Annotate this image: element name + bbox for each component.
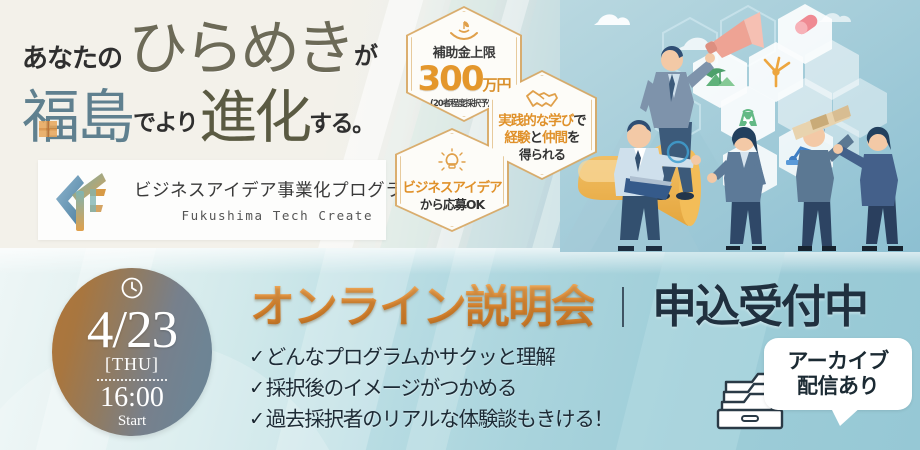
event-date: 4/23 bbox=[87, 306, 177, 355]
check-icon: ✓ bbox=[249, 374, 264, 403]
list-item-text: 過去採択者のリアルな体験談もきける！ bbox=[266, 404, 613, 435]
headline-main: 申込受付中 bbox=[652, 284, 867, 329]
list-item-text: どんなプログラムかサクッと理解 bbox=[266, 342, 555, 373]
headline-accent: オンライン説明会 bbox=[250, 284, 594, 329]
catchcopy-line1-small: あなたの bbox=[22, 46, 122, 78]
benefit-list: ✓ どんなプログラムかサクッと理解 ✓ 採択後のイメージがつかめる ✓ 過去採択… bbox=[249, 342, 613, 435]
date-divider bbox=[97, 379, 167, 381]
badge-idea-line1: ビジネスアイデア bbox=[402, 180, 501, 197]
hand-with-sprout-icon bbox=[449, 19, 479, 46]
catchcopy-line1-particle: が bbox=[354, 36, 377, 78]
archive-line2: 配信あり bbox=[797, 374, 879, 399]
archive-badge: アーカイブ 配信あり bbox=[712, 338, 912, 444]
list-item-text: 採択後のイメージがつかめる bbox=[266, 373, 517, 404]
headline-divider: ｜ bbox=[594, 276, 652, 334]
check-icon: ✓ bbox=[249, 343, 264, 372]
bottom-headline: オンライン説明会 ｜ 申込受付中 bbox=[250, 276, 867, 334]
program-name-en: Fukushima Tech Create bbox=[134, 208, 421, 223]
handshake-icon bbox=[525, 87, 559, 112]
event-banner: あなたの ひらめき が 福島 でより 進化 する。 bbox=[0, 0, 920, 450]
event-start-label: Start bbox=[118, 413, 146, 430]
badge-learning-line1: 実践的な学びで bbox=[498, 113, 586, 130]
badge-learning-line3: 得られる bbox=[519, 147, 565, 163]
check-icon: ✓ bbox=[249, 405, 264, 434]
catchcopy-verb: 進化 bbox=[199, 88, 309, 146]
event-time: 16:00 bbox=[100, 383, 164, 412]
event-date-circle: 4/23 [THU] 16:00 Start bbox=[52, 268, 212, 436]
lightbulb-icon bbox=[437, 148, 467, 179]
badge-subsidy-amount: 300 bbox=[418, 62, 483, 96]
archive-bubble: アーカイブ 配信あり bbox=[764, 338, 912, 410]
archive-line1: アーカイブ bbox=[787, 349, 888, 374]
catchcopy-line2-mid: でより bbox=[132, 103, 199, 146]
program-logo-bar: ビジネスアイデア事業化プログラム Fukushima Tech Create bbox=[38, 160, 386, 240]
list-item: ✓ 過去採択者のリアルな体験談もきける！ bbox=[249, 404, 613, 435]
business-people-megaphone-hexagons-illustration bbox=[560, 0, 920, 252]
catchcopy: あなたの ひらめき が 福島 でより 進化 する。 bbox=[22, 16, 442, 146]
program-name-jp: ビジネスアイデア事業化プログラム bbox=[134, 177, 421, 202]
list-item: ✓ どんなプログラムかサクッと理解 bbox=[249, 342, 613, 373]
badge-idea-line2: から応募OK bbox=[420, 197, 484, 213]
list-item: ✓ 採択後のイメージがつかめる bbox=[249, 373, 613, 404]
badge-learning-line2: 経験と仲間を bbox=[505, 130, 580, 147]
catchcopy-line2-tail: する。 bbox=[309, 104, 374, 146]
event-day-of-week: [THU] bbox=[105, 354, 159, 375]
ftc-logo-mark bbox=[46, 165, 130, 235]
badge-subsidy-note: (20者程度採択予定) bbox=[430, 97, 498, 109]
catchcopy-line1-brush: ひらめき bbox=[122, 21, 354, 78]
catchcopy-place: 福島 bbox=[22, 88, 132, 146]
